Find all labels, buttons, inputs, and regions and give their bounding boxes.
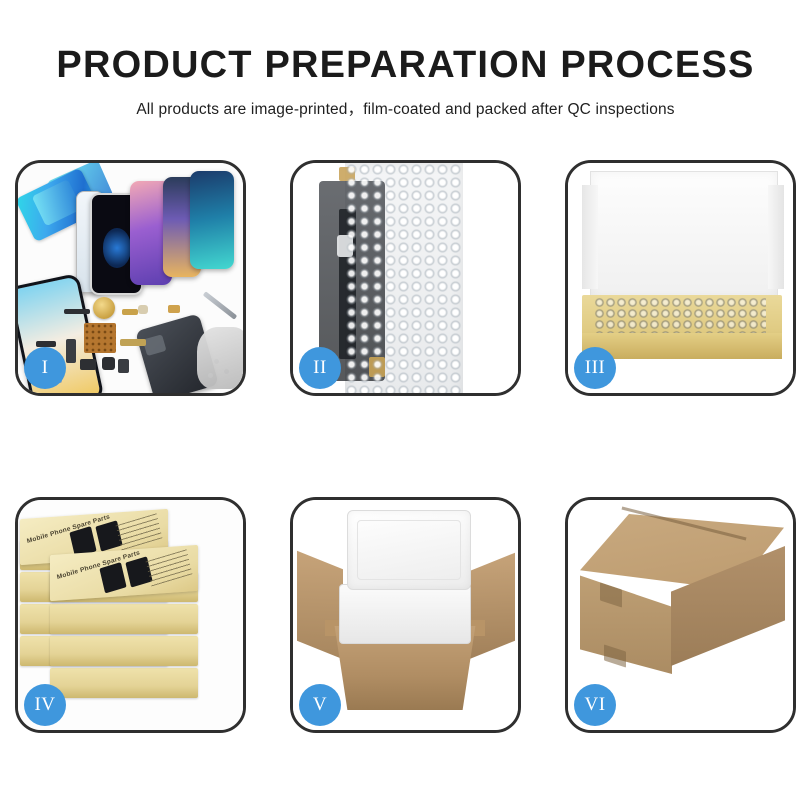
speaker-icon	[80, 359, 96, 370]
box-lid-side-icon	[768, 185, 784, 289]
step-numeral: I	[42, 357, 49, 379]
step-badge-2: II	[299, 347, 341, 389]
step-panel-1: I	[15, 160, 246, 396]
phone-teal-icon	[190, 171, 234, 269]
header: PRODUCT PREPARATION PROCESS All products…	[0, 0, 811, 119]
carton-flap-right-icon	[469, 553, 515, 660]
flex-cable-icon	[64, 309, 90, 314]
step-numeral: III	[585, 357, 605, 379]
step-badge-6: VI	[574, 684, 616, 726]
tweezer-icon	[203, 291, 238, 320]
step-numeral: V	[313, 694, 327, 716]
kraft-box-icon	[50, 668, 198, 698]
step-panel-6: VI	[565, 497, 796, 733]
small-part-icon	[138, 305, 148, 314]
page-subtitle: All products are image-printed，film-coat…	[0, 86, 811, 119]
box-lid-icon	[590, 171, 778, 299]
bubble-wrapped-contents-icon	[594, 297, 766, 335]
hand-icon	[197, 327, 243, 389]
page-title: PRODUCT PREPARATION PROCESS	[0, 0, 811, 86]
kraft-box-icon	[50, 636, 198, 666]
camera-module-icon	[102, 357, 115, 370]
product-preparation-infographic: PRODUCT PREPARATION PROCESS All products…	[0, 0, 811, 811]
ribbon-cable-icon	[66, 339, 76, 363]
antenna-strip-icon	[120, 339, 146, 346]
flex-cable-icon	[339, 209, 356, 359]
step-badge-1: I	[24, 347, 66, 389]
step-panel-3: III	[565, 160, 796, 396]
step-panel-4: Mobile Phone Spare Parts Mobile Phone Sp…	[15, 497, 246, 733]
foam-box-icon	[339, 584, 471, 644]
copper-coil-icon	[93, 297, 115, 319]
connector-icon	[369, 357, 385, 377]
box-lid-side-icon	[582, 185, 598, 289]
vibrator-icon	[118, 359, 129, 373]
box-spec-lines-icon	[146, 549, 193, 586]
step-badge-5: V	[299, 684, 341, 726]
box-product-image-icon	[99, 562, 126, 593]
step-numeral: VI	[584, 694, 605, 716]
step-panel-2: II	[290, 160, 521, 396]
chip-array-icon	[84, 323, 116, 353]
carton-flap-left-icon	[297, 551, 343, 660]
process-steps-grid: I II	[15, 160, 796, 733]
step-numeral: II	[313, 357, 327, 379]
step-panel-5: V	[290, 497, 521, 733]
tape-tab-icon	[339, 167, 355, 181]
step-badge-3: III	[574, 347, 616, 389]
foam-lid-icon	[347, 510, 471, 590]
kraft-box-icon	[50, 604, 198, 634]
gold-contact-icon	[168, 305, 180, 313]
box-spec-lines-icon	[116, 513, 163, 550]
gold-connector-icon	[122, 309, 138, 315]
chip-icon	[337, 235, 353, 257]
step-numeral: IV	[34, 694, 55, 716]
step-badge-4: IV	[24, 684, 66, 726]
